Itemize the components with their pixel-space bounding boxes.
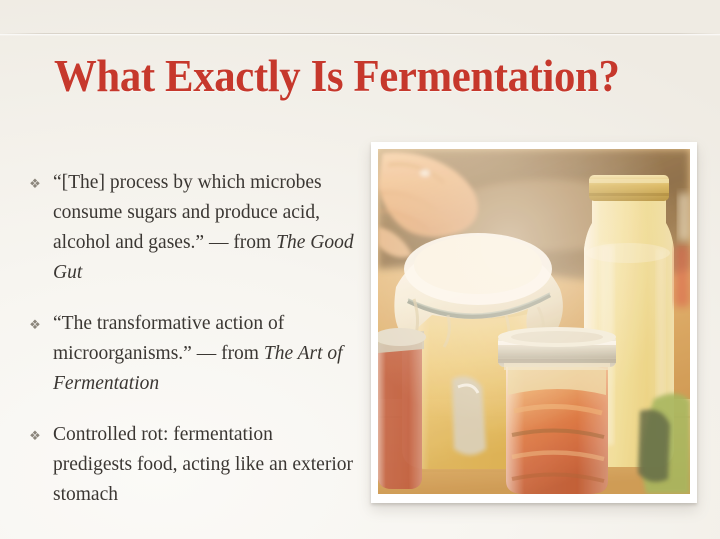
fermentation-photo-frame — [371, 142, 697, 503]
diamond-bullet-icon: ❖ — [27, 422, 43, 450]
diamond-bullet-icon: ❖ — [27, 170, 43, 198]
list-item: ❖ “The transformative action of microorg… — [26, 309, 356, 399]
header-divider-highlight — [0, 34, 720, 36]
slide-canvas: What Exactly Is Fermentation? ❖ “[The] p… — [0, 0, 720, 539]
list-item: ❖ Controlled rot: fermentation predigest… — [26, 420, 356, 510]
bullet-text: Controlled rot: fermentation predigests … — [53, 424, 353, 505]
bullet-list: ❖ “[The] process by which microbes consu… — [26, 168, 356, 510]
bullet-text: “The transformative action of microorgan… — [53, 313, 284, 364]
fermentation-photo — [378, 149, 690, 494]
page-title: What Exactly Is Fermentation? — [54, 50, 649, 102]
diamond-bullet-icon: ❖ — [27, 311, 43, 339]
list-item: ❖ “[The] process by which microbes consu… — [26, 168, 356, 288]
